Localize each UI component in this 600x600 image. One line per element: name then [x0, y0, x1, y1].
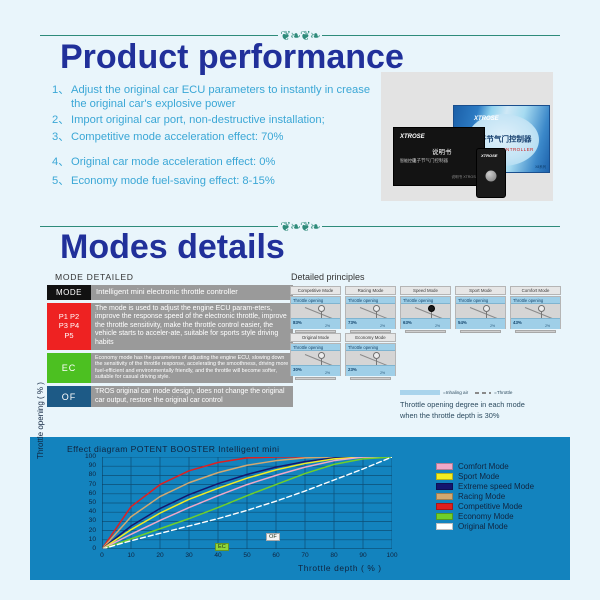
principle-card-depth: 2%	[380, 324, 385, 328]
principle-card-depth: 2%	[325, 324, 330, 328]
principle-card-top-label: Throttle opening	[401, 297, 450, 304]
principle-card-base	[515, 330, 556, 333]
chart-x-tick-label: 50	[240, 552, 254, 559]
principles-card-row-2: Original ModeThrottle opening30%2%Econom…	[290, 333, 561, 376]
chart-x-tick-label: 90	[356, 552, 370, 559]
principle-card-name: Comfort Mode	[510, 286, 561, 295]
list-item: 3、 Competitive mode acceleration effect:…	[52, 131, 382, 145]
list-item-number: 4、	[52, 156, 71, 170]
table-row-value: Intelligent mini electronic throttle con…	[91, 285, 293, 300]
chart-legend-swatch	[436, 483, 453, 490]
table-row-value: TROS original car mode design, does not …	[91, 386, 293, 407]
performance-list: 1、 Adjust the original car ECU parameter…	[52, 84, 382, 191]
chart-y-tick-label: 90	[80, 462, 96, 469]
principle-card-percent: 30%	[293, 367, 302, 372]
principle-card-dial-icon	[318, 352, 325, 359]
chart-legend-swatch	[436, 473, 453, 480]
chart-y-tick-label: 20	[80, 527, 96, 534]
curve-tag-of: OF	[266, 533, 280, 541]
table-row: EC Economy mode has the parameters of ad…	[47, 353, 293, 383]
chart-y-tick-label: 50	[80, 499, 96, 506]
principles-legend-note-line2: when the throttle depth is 30%	[400, 410, 575, 421]
list-item: 4、 Original car mode acceleration effect…	[52, 156, 382, 170]
chart-legend-item: Original Mode	[436, 522, 534, 531]
principles-legend-row: =Inhaling air =Throttle	[400, 390, 575, 395]
principle-card-top-label: Throttle opening	[291, 297, 340, 304]
list-item-number: 3、	[52, 131, 71, 145]
product-device-knob	[486, 171, 497, 182]
table-row-key: OF	[47, 386, 91, 407]
product-manual-title: 说明书	[432, 146, 452, 156]
ornament-line-right	[322, 226, 560, 227]
chart-y-tick-label: 30	[80, 517, 96, 524]
list-item: 1、 Adjust the original car ECU parameter…	[52, 84, 382, 111]
chart-legend-label: Original Mode	[458, 522, 508, 531]
chart-legend-label: Comfort Mode	[458, 462, 509, 471]
product-manual: XTROSE 说明书 电子节气门控制器 智能控速 说明书 XTROSE	[393, 127, 485, 186]
principle-card-dial-area	[401, 304, 450, 318]
principle-card-name: Original Mode	[290, 333, 341, 342]
principle-card-base	[460, 330, 501, 333]
principle-card: Economy ModeThrottle opening23%2%	[345, 333, 396, 376]
mode-detail-table: MODE Intelligent mini electronic throttl…	[47, 285, 293, 410]
product-box-brand: XTROSE	[474, 116, 499, 122]
principle-card-percent: 43%	[513, 320, 522, 325]
list-item-text: Adjust the original car ECU parameters t…	[71, 84, 382, 111]
table-row-value: Economy mode has the parameters of adjus…	[91, 353, 293, 383]
chart-x-tick-label: 60	[269, 552, 283, 559]
chart-x-tick-label: 0	[95, 552, 109, 559]
principle-card: Speed ModeThrottle opening63%2%	[400, 286, 451, 329]
principle-card-base	[405, 330, 446, 333]
principle-card-dial-area	[346, 351, 395, 365]
principle-card-percent: 54%	[458, 320, 467, 325]
principle-card-dial-icon	[373, 352, 380, 359]
infographic-page: ❦❧❦❧ Product performance 1、 Adjust the o…	[0, 0, 600, 600]
chart-legend-item: Racing Mode	[436, 492, 534, 501]
chart-y-tick-label: 70	[80, 481, 96, 488]
principle-card-body: Throttle opening54%2%	[455, 296, 506, 329]
chart-legend-swatch	[436, 493, 453, 500]
principle-card-dial-area	[511, 304, 560, 318]
principle-card-dial-icon	[538, 305, 545, 312]
principle-card-percent: 73%	[348, 320, 357, 325]
principle-card: Sport ModeThrottle opening54%2%	[455, 286, 506, 329]
principle-card-dial-area	[456, 304, 505, 318]
chart-y-tick-label: 80	[80, 471, 96, 478]
chart-legend-swatch	[436, 523, 453, 530]
chart-legend-item: Competitive Mode	[436, 502, 534, 511]
principle-card-name: Racing Mode	[345, 286, 396, 295]
product-photo: XTROSE 电子节气门控制器 THROTTLE CONTROLLER X8系列…	[381, 72, 553, 201]
chart-x-tick-label: 30	[182, 552, 196, 559]
principle-card-body: Throttle opening83%2%	[290, 296, 341, 329]
principle-card-dial-icon	[373, 305, 380, 312]
ornament-line-right	[322, 35, 560, 36]
chart-legend-swatch	[436, 503, 453, 510]
inhaling-air-label: =Inhaling air	[443, 390, 468, 395]
principle-card-top-label: Throttle opening	[456, 297, 505, 304]
principle-card-top-label: Throttle opening	[291, 344, 340, 351]
chart-x-tick-label: 100	[385, 552, 399, 559]
chart-y-tick-label: 100	[80, 453, 96, 460]
principle-card: Comfort ModeThrottle opening43%2%	[510, 286, 561, 329]
principle-card-body: Throttle opening73%2%	[345, 296, 396, 329]
chart-legend-label: Competitive Mode	[458, 502, 522, 511]
principle-card-percent: 23%	[348, 367, 357, 372]
principle-card-base	[295, 330, 336, 333]
principles-legend-note-line1: Throttle opening degree in each mode	[400, 399, 575, 410]
list-item: 5、 Economy mode fuel-saving effect: 8-15…	[52, 175, 382, 189]
chart-title: Effect diagram POTENT BOOSTER Intelligen…	[67, 444, 279, 454]
product-manual-brand: XTROSE	[400, 134, 425, 140]
principle-card-dial-icon	[318, 305, 325, 312]
chart-plot-area: 0102030405060708090100010203040506070809…	[102, 457, 392, 549]
chart-x-tick-label: 10	[124, 552, 138, 559]
principle-card-name: Economy Mode	[345, 333, 396, 342]
principle-card-bottom: 43%2%	[511, 318, 560, 329]
page-title-product-performance: Product performance	[60, 38, 404, 77]
principle-card-depth: 2%	[545, 324, 550, 328]
principle-card-dial-icon	[483, 305, 490, 312]
throttle-swatch	[475, 392, 491, 394]
principle-card-bottom: 83%2%	[291, 318, 340, 329]
principle-card-body: Throttle opening63%2%	[400, 296, 451, 329]
principle-card-depth: 2%	[380, 371, 385, 375]
principle-card-dial-area	[291, 351, 340, 365]
list-item-number: 1、	[52, 84, 71, 111]
chart-legend-item: Comfort Mode	[436, 462, 534, 471]
principle-card-depth: 2%	[490, 324, 495, 328]
principle-card: Original ModeThrottle opening30%2%	[290, 333, 341, 376]
product-box-corner: X8系列	[535, 164, 546, 169]
effect-diagram-panel: Effect diagram POTENT BOOSTER Intelligen…	[30, 437, 570, 580]
chart-legend-item: Economy Mode	[436, 512, 534, 521]
page-title-modes-details: Modes details	[60, 228, 285, 267]
principle-card: Competitive ModeThrottle opening83%2%	[290, 286, 341, 329]
chart-x-axis-label: Throttle depth ( % )	[298, 563, 382, 573]
chart-y-tick-label: 0	[80, 545, 96, 552]
principle-card-body: Throttle opening30%2%	[290, 343, 341, 376]
principle-card-name: Competitive Mode	[290, 286, 341, 295]
chart-x-tick-label: 70	[298, 552, 312, 559]
principle-card-dial-area	[346, 304, 395, 318]
ornament-line-left	[40, 226, 278, 227]
principles-legend: =Inhaling air =Throttle Throttle opening…	[400, 390, 575, 421]
principle-card-bottom: 54%2%	[456, 318, 505, 329]
product-manual-side: 智能控速	[400, 158, 416, 164]
product-manual-footer: 说明书 XTROSE	[451, 175, 478, 180]
table-row-key: MODE	[47, 285, 91, 300]
ornament-line-left	[40, 35, 278, 36]
chart-x-tick-label: 80	[327, 552, 341, 559]
principle-card-body: Throttle opening23%2%	[345, 343, 396, 376]
list-item: 2、 Import original car port, non-destruc…	[52, 114, 382, 128]
product-device: XTROSE	[476, 148, 506, 198]
principle-card-bottom: 30%2%	[291, 365, 340, 376]
chart-legend-label: Racing Mode	[458, 492, 505, 501]
list-item-text: Competitive mode acceleration effect: 70…	[71, 131, 382, 145]
principle-card-base	[295, 377, 336, 380]
principle-card-dial-icon	[428, 305, 435, 312]
chart-legend-swatch	[436, 463, 453, 470]
throttle-label: =Throttle	[494, 390, 512, 395]
principles-label: Detailed principles	[291, 272, 365, 282]
principles-cards: Competitive ModeThrottle opening83%2%Rac…	[290, 286, 561, 380]
chart-y-tick-label: 40	[80, 508, 96, 515]
principle-card-top-label: Throttle opening	[511, 297, 560, 304]
list-item-text: Original car mode acceleration effect: 0…	[71, 156, 382, 170]
principle-card-name: Sport Mode	[455, 286, 506, 295]
chart-legend-item: Sport Mode	[436, 472, 534, 481]
table-row: MODE Intelligent mini electronic throttl…	[47, 285, 293, 300]
principle-card-bottom: 23%2%	[346, 365, 395, 376]
table-row: P1 P2 P3 P4 P5 The mode is used to adjus…	[47, 303, 293, 350]
principle-card-base	[350, 330, 391, 333]
list-item-text: Import original car port, non-destructiv…	[71, 114, 382, 128]
principle-card-bottom: 73%2%	[346, 318, 395, 329]
inhaling-air-swatch	[400, 390, 440, 395]
principle-card-body: Throttle opening43%2%	[510, 296, 561, 329]
principle-card-depth: 2%	[325, 371, 330, 375]
chart-legend-item: Extreme speed Mode	[436, 482, 534, 491]
principles-card-row-1: Competitive ModeThrottle opening83%2%Rac…	[290, 286, 561, 329]
curve-tag-ec: EC	[215, 543, 229, 551]
chart-y-tick-label: 10	[80, 536, 96, 543]
chart-legend-label: Extreme speed Mode	[458, 482, 534, 491]
principle-card-bottom: 63%2%	[401, 318, 450, 329]
table-row-value: The mode is used to adjust the engine EC…	[91, 303, 293, 350]
list-item-number: 2、	[52, 114, 71, 128]
list-item-text: Economy mode fuel-saving effect: 8-15%	[71, 175, 382, 189]
principle-card-name: Speed Mode	[400, 286, 451, 295]
chart-y-tick-label: 60	[80, 490, 96, 497]
principle-card-top-label: Throttle opening	[346, 297, 395, 304]
list-item-number: 5、	[52, 175, 71, 189]
mode-table-label: MODE DETAILED	[55, 272, 134, 282]
chart-legend-label: Economy Mode	[458, 512, 514, 521]
list-spacer	[52, 147, 382, 156]
table-row-key: P1 P2 P3 P4 P5	[47, 303, 91, 350]
chart-legend: Comfort ModeSport ModeExtreme speed Mode…	[436, 462, 534, 532]
chart-y-axis-label: Throttle opening ( % )	[36, 382, 45, 459]
chart-legend-swatch	[436, 513, 453, 520]
principle-card-percent: 83%	[293, 320, 302, 325]
table-row: OF TROS original car mode design, does n…	[47, 386, 293, 407]
principle-card-base	[350, 377, 391, 380]
principle-card-top-label: Throttle opening	[346, 344, 395, 351]
principle-card: Racing ModeThrottle opening73%2%	[345, 286, 396, 329]
principle-card-depth: 2%	[435, 324, 440, 328]
principle-card-dial-area	[291, 304, 340, 318]
product-manual-subtitle: 电子节气门控制器	[412, 158, 448, 164]
chart-x-tick-label: 40	[211, 552, 225, 559]
chart-legend-label: Sport Mode	[458, 472, 499, 481]
table-row-key: EC	[47, 353, 91, 383]
product-device-brand: XTROSE	[481, 153, 497, 158]
chart-svg	[102, 457, 392, 549]
principle-card-percent: 63%	[403, 320, 412, 325]
chart-x-tick-label: 20	[153, 552, 167, 559]
